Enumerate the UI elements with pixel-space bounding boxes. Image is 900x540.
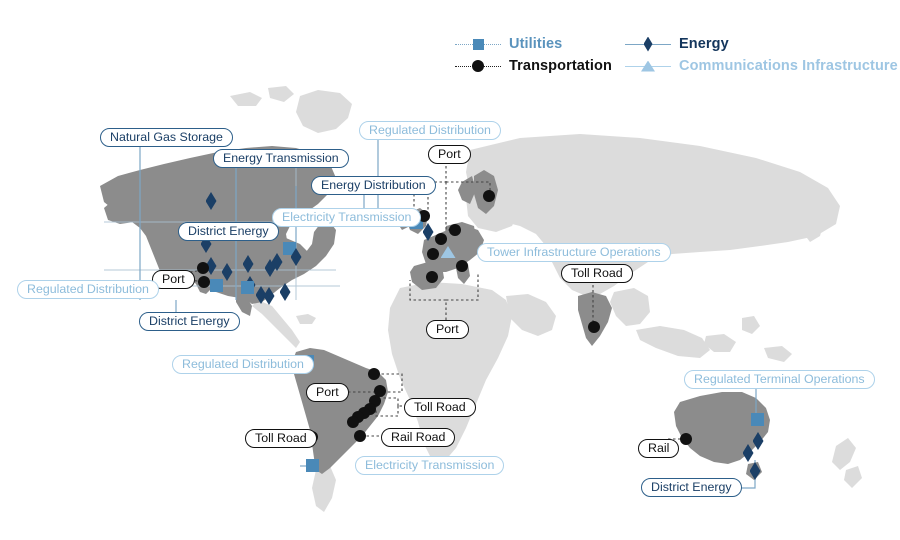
map-label-toll-road-chile[interactable]: Toll Road — [245, 429, 317, 448]
map-label-electricity-transmission-sa[interactable]: Electricity Transmission — [355, 456, 504, 475]
circle-marker-transport-br-7[interactable] — [347, 416, 359, 428]
map-label-district-energy-us-south[interactable]: District Energy — [139, 312, 240, 331]
circle-marker-transport-us-westport-2[interactable] — [198, 276, 210, 288]
circle-marker-transport-italy[interactable] — [456, 260, 468, 272]
circle-marker-transport-finland[interactable] — [483, 190, 495, 202]
map-label-regulated-terminal-operations[interactable]: Regulated Terminal Operations — [684, 370, 875, 389]
map-label-regulated-distribution-sa[interactable]: Regulated Distribution — [172, 355, 314, 374]
legend-label-energy: Energy — [679, 36, 729, 52]
map-label-rail-road-brazil[interactable]: Rail Road — [381, 428, 455, 447]
map-label-energy-transmission[interactable]: Energy Transmission — [213, 149, 349, 168]
map-label-electricity-transmission-na[interactable]: Electricity Transmission — [272, 208, 421, 227]
circle-marker-transport-france[interactable] — [427, 248, 439, 260]
legend-line-transportation — [455, 66, 501, 67]
map-label-rail-australia[interactable]: Rail — [638, 439, 679, 458]
legend-label-transportation: Transportation — [509, 58, 612, 74]
legend-label-communications: Communications Infrastructure — [679, 58, 898, 74]
map-label-district-energy-australia[interactable]: District Energy — [641, 478, 742, 497]
circle-marker-icon — [472, 60, 484, 72]
square-marker-utilities-chile[interactable] — [306, 459, 319, 472]
circle-marker-transport-india[interactable] — [588, 321, 600, 333]
map-label-district-energy-us-north[interactable]: District Energy — [178, 222, 279, 241]
legend-line-energy — [625, 44, 671, 45]
legend-item-utilities[interactable]: Utilities — [455, 36, 562, 52]
circle-marker-transport-germany[interactable] — [449, 224, 461, 236]
map-label-regulated-distribution-eu[interactable]: Regulated Distribution — [359, 121, 501, 140]
map-label-toll-road-india[interactable]: Toll Road — [561, 264, 633, 283]
map-label-toll-road-brazil[interactable]: Toll Road — [404, 398, 476, 417]
diamond-marker-icon — [644, 37, 653, 52]
circle-marker-transport-br-1[interactable] — [368, 368, 380, 380]
circle-marker-transport-belgium[interactable] — [435, 233, 447, 245]
legend-label-utilities: Utilities — [509, 36, 562, 52]
circle-marker-transport-br-8[interactable] — [354, 430, 366, 442]
map-label-tower-infrastructure-operations[interactable]: Tower Infrastructure Operations — [477, 243, 671, 262]
legend-line-utilities — [455, 44, 501, 45]
infrastructure-world-map: Natural Gas StorageEnergy TransmissionEn… — [0, 0, 900, 540]
map-label-energy-distribution[interactable]: Energy Distribution — [311, 176, 436, 195]
legend-item-communications[interactable]: Communications Infrastructure — [625, 58, 898, 74]
legend-item-energy[interactable]: Energy — [625, 36, 729, 52]
map-label-regulated-distribution-us[interactable]: Regulated Distribution — [17, 280, 159, 299]
square-marker-utilities-au-qld[interactable] — [751, 413, 764, 426]
map-legend: Utilities Transportation Energy Communic… — [455, 32, 895, 80]
legend-line-communications — [625, 66, 671, 67]
map-label-port-eu[interactable]: Port — [428, 145, 471, 164]
circle-marker-transport-spain[interactable] — [426, 271, 438, 283]
circle-marker-transport-au-perth[interactable] — [680, 433, 692, 445]
legend-item-transportation[interactable]: Transportation — [455, 58, 612, 74]
map-label-port-sa[interactable]: Port — [306, 383, 349, 402]
map-label-natural-gas-storage[interactable]: Natural Gas Storage — [100, 128, 233, 147]
square-marker-utilities-us-ca[interactable] — [210, 279, 223, 292]
map-label-port-africa[interactable]: Port — [426, 320, 469, 339]
square-marker-utilities-us-tx[interactable] — [241, 281, 254, 294]
square-marker-icon — [473, 39, 484, 50]
circle-marker-transport-us-westport-1[interactable] — [197, 262, 209, 274]
